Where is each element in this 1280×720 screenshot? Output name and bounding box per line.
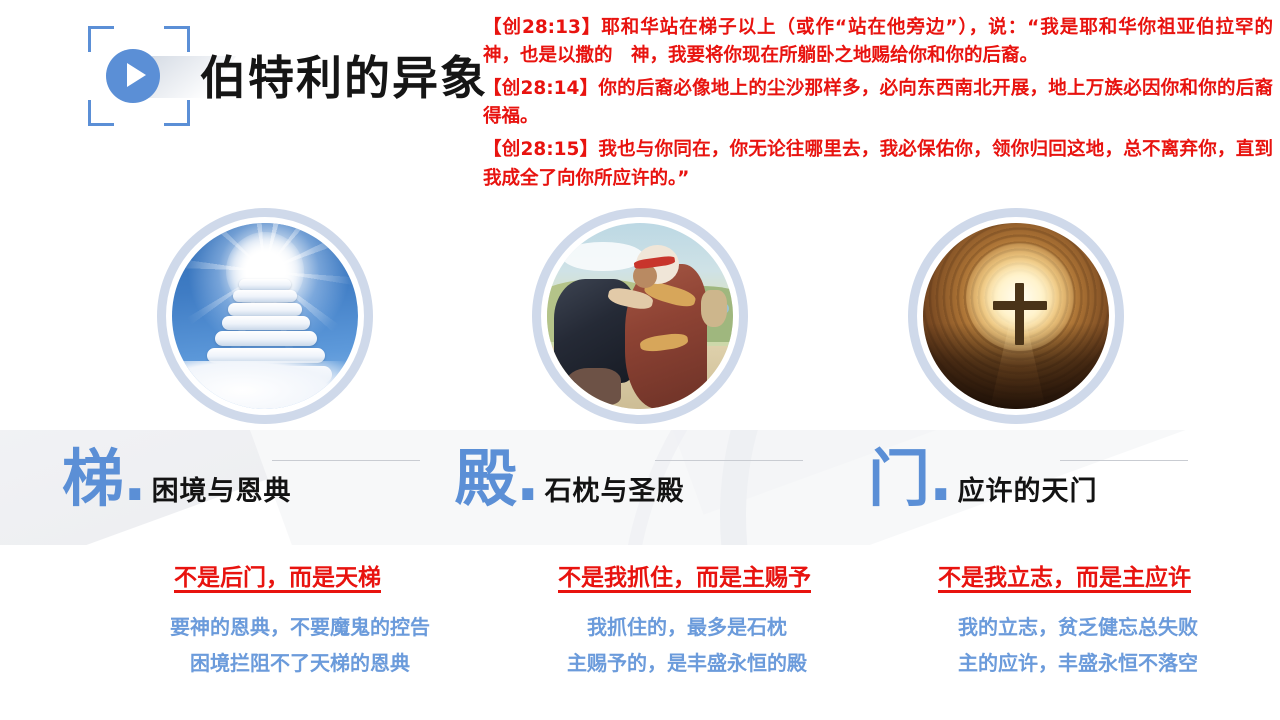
stair-step [239, 279, 291, 290]
column-emphasis: 不是我立志，而是主应许 [938, 558, 1191, 592]
divider [655, 460, 803, 461]
column-key-character: 门. [868, 448, 952, 510]
note-line: 我的立志，贫乏健忘总失败 [868, 610, 1280, 646]
tunnel-cross-icon [923, 223, 1109, 409]
column-key-character: 梯. [62, 448, 146, 510]
oil-jar [701, 290, 727, 327]
column-heading: 殿. 石枕与圣殿 [455, 448, 875, 510]
logo-frame-gap [114, 122, 164, 130]
content-column-2: 殿. 石枕与圣殿 不是我抓住，而是主赐予 我抓住的，最多是石枕 主赐予的，是丰盛… [455, 448, 875, 510]
circle-image-jacob [532, 208, 748, 424]
column-subtitle: 应许的天门 [958, 469, 1098, 508]
page-title: 伯特利的异象 [200, 42, 488, 108]
scripture-verse: 【创28:13】耶和华站在梯子以上（或作“站在他旁边”），说：“我是耶和华你祖亚… [483, 14, 1273, 70]
presentation-slide: 伯特利的异象 【创28:13】耶和华站在梯子以上（或作“站在他旁边”），说：“我… [0, 0, 1280, 720]
cloud-stairway-icon [172, 223, 358, 409]
scripture-block: 【创28:13】耶和华站在梯子以上（或作“站在他旁边”），说：“我是耶和华你祖亚… [483, 14, 1273, 198]
jacob-anointing-icon [547, 223, 733, 409]
play-button-icon [88, 26, 190, 126]
note-line: 我抓住的，最多是石枕 [477, 610, 897, 646]
stair-step [233, 290, 296, 302]
column-emphasis: 不是我抓住，而是主赐予 [558, 558, 811, 592]
column-key-character: 殿. [455, 448, 539, 510]
circle-image-cross-tunnel [908, 208, 1124, 424]
note-line: 要神的恩典，不要魔鬼的控告 [90, 610, 510, 646]
column-heading: 梯. 困境与恩典 [62, 448, 482, 510]
note-line: 困境拦阻不了天梯的恩典 [90, 646, 510, 682]
logo-frame-gap [114, 22, 164, 30]
divider [1060, 460, 1188, 461]
cloud-base [172, 361, 358, 409]
stair-step [222, 316, 309, 330]
content-column-1: 梯. 困境与恩典 不是后门，而是天梯 要神的恩典，不要魔鬼的控告 困境拦阻不了天… [62, 448, 482, 510]
column-subtitle: 石枕与圣殿 [545, 469, 685, 508]
column-heading: 门. 应许的天门 [868, 448, 1280, 510]
column-emphasis: 不是后门，而是天梯 [174, 558, 381, 592]
divider [272, 460, 420, 461]
column-notes: 我抓住的，最多是石枕 主赐予的，是丰盛永恒的殿 [477, 610, 897, 681]
column-subtitle: 困境与恩典 [152, 469, 292, 508]
circle-image-stairway [157, 208, 373, 424]
cross-icon [993, 301, 1047, 310]
note-line: 主的应许，丰盛永恒不落空 [868, 646, 1280, 682]
scripture-verse: 【创28:14】你的后裔必像地上的尘沙那样多，必向东西南北开展，地上万族必因你和… [483, 75, 1273, 131]
column-notes: 要神的恩典，不要魔鬼的控告 困境拦阻不了天梯的恩典 [90, 610, 510, 681]
logo-frame-gap [84, 52, 92, 100]
scripture-verse: 【创28:15】我也与你同在，你无论往哪里去，我必保佑你，领你归回这地，总不离弃… [483, 136, 1273, 192]
column-notes: 我的立志，贫乏健忘总失败 主的应许，丰盛永恒不落空 [868, 610, 1280, 681]
stone-base [566, 368, 622, 405]
content-column-3: 门. 应许的天门 不是我立志，而是主应许 我的立志，贫乏健忘总失败 主的应许，丰… [868, 448, 1280, 510]
play-triangle-icon [127, 63, 146, 87]
stair-step [228, 303, 302, 316]
note-line: 主赐予的，是丰盛永恒的殿 [477, 646, 897, 682]
cross-icon [1015, 283, 1024, 345]
stair-step [215, 331, 317, 346]
cloud [562, 242, 644, 272]
